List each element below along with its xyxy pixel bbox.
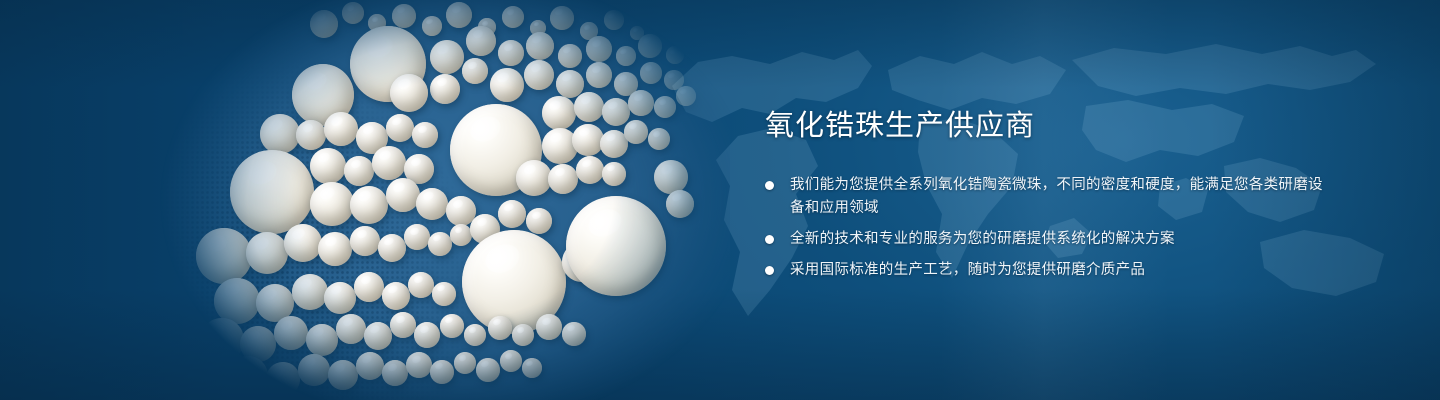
bullet-dot-icon [765, 181, 774, 190]
feature-list: 我们能为您提供全系列氧化锆陶瓷微珠，不同的密度和硬度，能满足您各类研磨设备和应用… [765, 174, 1325, 282]
list-item: 我们能为您提供全系列氧化锆陶瓷微珠，不同的密度和硬度，能满足您各类研磨设备和应用… [765, 174, 1325, 220]
hero-banner: 氧化锆珠生产供应商 我们能为您提供全系列氧化锆陶瓷微珠，不同的密度和硬度，能满足… [0, 0, 1440, 400]
list-item-label: 我们能为您提供全系列氧化锆陶瓷微珠，不同的密度和硬度，能满足您各类研磨设备和应用… [790, 174, 1325, 220]
bullet-dot-icon [765, 235, 774, 244]
page-title: 氧化锆珠生产供应商 [765, 108, 1325, 144]
list-item-label: 全新的技术和专业的服务为您的研磨提供系统化的解决方案 [790, 228, 1325, 251]
list-item-label: 采用国际标准的生产工艺，随时为您提供研磨介质产品 [790, 259, 1325, 282]
bullet-dot-icon [765, 266, 774, 275]
zirconia-beads-photo [110, 0, 730, 400]
list-item: 采用国际标准的生产工艺，随时为您提供研磨介质产品 [765, 259, 1325, 282]
bead-cluster [110, 0, 730, 400]
banner-content: 氧化锆珠生产供应商 我们能为您提供全系列氧化锆陶瓷微珠，不同的密度和硬度，能满足… [765, 108, 1325, 282]
list-item: 全新的技术和专业的服务为您的研磨提供系统化的解决方案 [765, 228, 1325, 251]
